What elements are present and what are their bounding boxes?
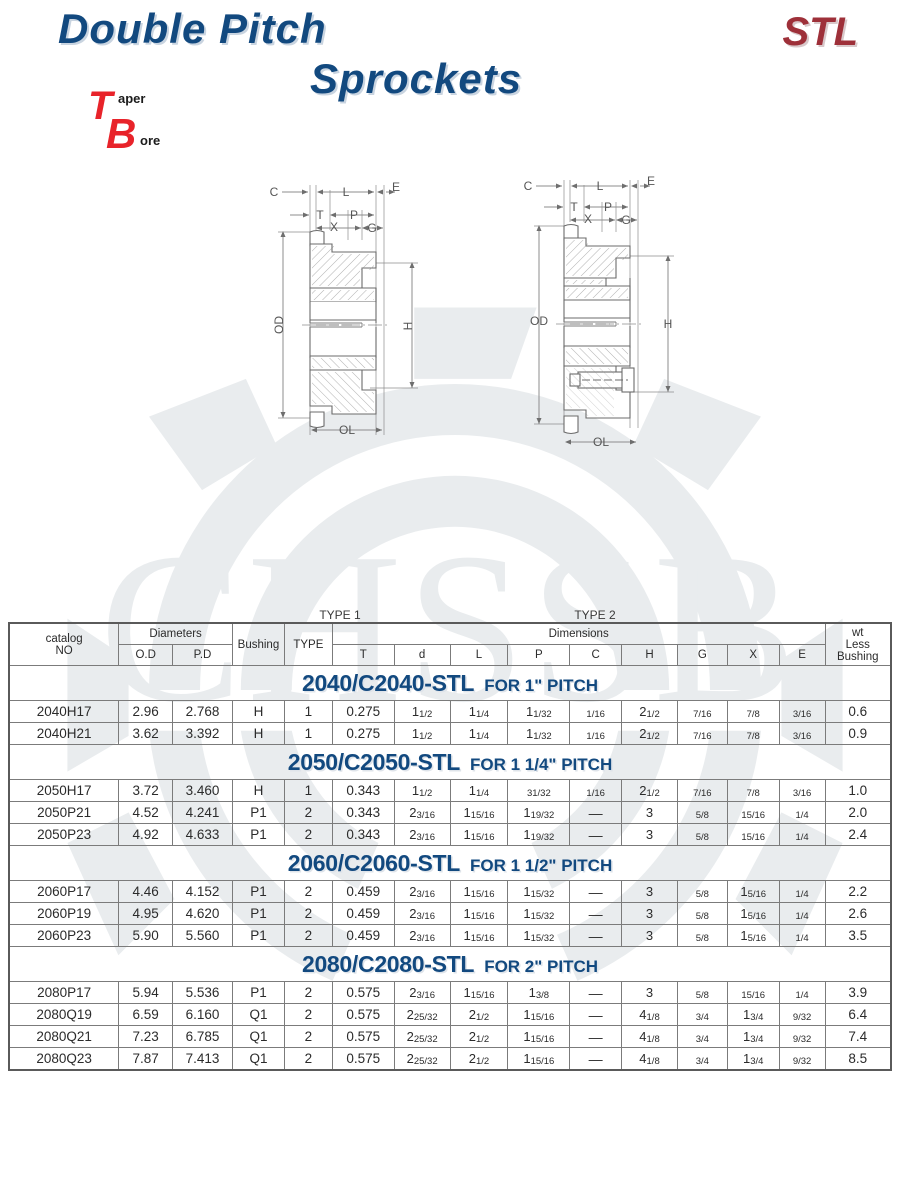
value-d: 225/32: [394, 1004, 450, 1026]
section-header-1: 2050/C2050-STLFOR 1 1/4" PITCH: [9, 745, 891, 780]
tb-logo-b: B: [106, 110, 136, 158]
dim-label-L: L: [597, 179, 604, 193]
value-wt: 0.9: [825, 723, 891, 745]
dim-label-C: C: [270, 185, 279, 199]
value-pd: 2.768: [173, 701, 233, 723]
value-X: 15/16: [727, 903, 779, 925]
value-L: 11/4: [450, 723, 508, 745]
value-G: 3/4: [677, 1026, 727, 1048]
dim-label-E: E: [392, 180, 400, 194]
value-T: 0.459: [332, 925, 394, 947]
value-G: 3/4: [677, 1004, 727, 1026]
catalog-no: 2050P23: [9, 824, 119, 846]
value-d: 23/16: [394, 802, 450, 824]
dim-label-T: T: [316, 208, 324, 222]
value-G: 5/8: [677, 903, 727, 925]
value-d: 23/16: [394, 903, 450, 925]
value-C: —: [570, 824, 622, 846]
section-pitch: FOR 2" PITCH: [484, 957, 598, 976]
value-d: 23/16: [394, 982, 450, 1004]
value-E: 1/4: [779, 881, 825, 903]
value-d: 225/32: [394, 1026, 450, 1048]
table-row: 2060P235.905.560P120.45923/16115/16115/3…: [9, 925, 891, 947]
catalog-no: 2080Q23: [9, 1048, 119, 1071]
section-pitch: FOR 1" PITCH: [484, 676, 598, 695]
value-T: 0.575: [332, 1026, 394, 1048]
value-E: 1/4: [779, 925, 825, 947]
value-wt: 3.5: [825, 925, 891, 947]
value-G: 5/8: [677, 881, 727, 903]
col-header-H: H: [622, 645, 678, 666]
value-L: 21/2: [450, 1026, 508, 1048]
value-X: 15/16: [727, 925, 779, 947]
value-H: 3: [622, 824, 678, 846]
dim-label-OD: OD: [272, 316, 286, 334]
value-X: 7/8: [727, 701, 779, 723]
value-P: 115/16: [508, 1048, 570, 1071]
value-d: 11/2: [394, 723, 450, 745]
value-d: 23/16: [394, 881, 450, 903]
value-bushing: P1: [232, 903, 284, 925]
table-row: 2040H213.623.392H10.27511/211/411/321/16…: [9, 723, 891, 745]
value-E: 1/4: [779, 903, 825, 925]
tb-logo-ore: ore: [140, 133, 160, 148]
catalog-line2: NO: [10, 645, 118, 657]
value-wt: 6.4: [825, 1004, 891, 1026]
dim-label-H: H: [401, 322, 415, 331]
value-d: 11/2: [394, 780, 450, 802]
value-P: 119/32: [508, 824, 570, 846]
table-row: 2050P214.524.241P120.34323/16115/16119/3…: [9, 802, 891, 824]
value-G: 5/8: [677, 802, 727, 824]
value-G: 5/8: [677, 982, 727, 1004]
dim-label-OL: OL: [339, 423, 355, 437]
value-H: 3: [622, 903, 678, 925]
table-row: 2060P194.954.620P120.45923/16115/16115/3…: [9, 903, 891, 925]
value-d: 23/16: [394, 824, 450, 846]
value-type: 2: [284, 802, 332, 824]
value-wt: 3.9: [825, 982, 891, 1004]
value-bushing: Q1: [232, 1004, 284, 1026]
value-bushing: H: [232, 701, 284, 723]
catalog-no: 2040H21: [9, 723, 119, 745]
value-E: 1/4: [779, 802, 825, 824]
catalog-no: 2050P21: [9, 802, 119, 824]
value-T: 0.575: [332, 1048, 394, 1071]
catalog-no: 2060P23: [9, 925, 119, 947]
value-G: 7/16: [677, 701, 727, 723]
value-pd: 3.392: [173, 723, 233, 745]
page-title-line1: Double Pitch: [58, 8, 327, 50]
catalog-no: 2060P17: [9, 881, 119, 903]
section-header-0: 2040/C2040-STLFOR 1" PITCH: [9, 666, 891, 701]
col-header-P: P: [508, 645, 570, 666]
value-T: 0.459: [332, 881, 394, 903]
value-bushing: H: [232, 780, 284, 802]
value-C: —: [570, 1048, 622, 1071]
sprocket-drawing-type-2: C L E T P X G OD H OL: [510, 160, 760, 490]
dim-label-C: C: [524, 179, 533, 193]
table-body: 2040/C2040-STLFOR 1" PITCH2040H172.962.7…: [9, 666, 891, 1071]
value-wt: 0.6: [825, 701, 891, 723]
value-od: 4.92: [119, 824, 173, 846]
value-pd: 6.160: [173, 1004, 233, 1026]
col-header-catalog: catalog NO: [9, 623, 119, 666]
value-wt: 7.4: [825, 1026, 891, 1048]
table-row: 2050P234.924.633P120.34323/16115/16119/3…: [9, 824, 891, 846]
table-row: 2080Q196.596.160Q120.575225/3221/2115/16…: [9, 1004, 891, 1026]
value-T: 0.275: [332, 723, 394, 745]
value-wt: 8.5: [825, 1048, 891, 1071]
value-X: 7/8: [727, 723, 779, 745]
catalog-no: 2060P19: [9, 903, 119, 925]
value-T: 0.575: [332, 1004, 394, 1026]
value-L: 21/2: [450, 1004, 508, 1026]
catalog-no: 2080P17: [9, 982, 119, 1004]
dim-label-OD: OD: [530, 314, 548, 328]
value-wt: 2.6: [825, 903, 891, 925]
section-header-2: 2060/C2060-STLFOR 1 1/2" PITCH: [9, 846, 891, 881]
col-header-dimensions: Dimensions: [332, 623, 825, 645]
value-od: 7.87: [119, 1048, 173, 1071]
value-E: 1/4: [779, 824, 825, 846]
wt-line3: Bushing: [826, 651, 891, 663]
value-H: 3: [622, 925, 678, 947]
value-C: —: [570, 1004, 622, 1026]
sprocket-drawing-type-1: C L E T P X G OD H OL: [250, 160, 500, 490]
value-pd: 4.633: [173, 824, 233, 846]
value-E: 9/32: [779, 1048, 825, 1071]
value-type: 2: [284, 903, 332, 925]
col-header-type: TYPE: [284, 623, 332, 666]
taper-bore-logo: T aper B ore: [88, 84, 178, 162]
value-type: 1: [284, 723, 332, 745]
section-header-row: 2040/C2040-STLFOR 1" PITCH: [9, 666, 891, 701]
value-X: 15/16: [727, 982, 779, 1004]
col-header-L: L: [450, 645, 508, 666]
section-code: 2080/C2080-STL: [302, 951, 474, 977]
value-H: 21/2: [622, 780, 678, 802]
spec-table-container: catalog NO Diameters Bushing TYPE Dimens…: [8, 622, 892, 1071]
value-pd: 3.460: [173, 780, 233, 802]
value-G: 7/16: [677, 780, 727, 802]
value-C: 1/16: [570, 780, 622, 802]
value-od: 6.59: [119, 1004, 173, 1026]
value-E: 9/32: [779, 1026, 825, 1048]
value-G: 5/8: [677, 925, 727, 947]
value-od: 3.62: [119, 723, 173, 745]
value-bushing: P1: [232, 802, 284, 824]
value-type: 2: [284, 881, 332, 903]
tb-logo-aper: aper: [118, 91, 145, 106]
col-header-T: T: [332, 645, 394, 666]
value-P: 11/32: [508, 723, 570, 745]
catalog-no: 2080Q19: [9, 1004, 119, 1026]
value-C: 1/16: [570, 723, 622, 745]
value-X: 13/4: [727, 1026, 779, 1048]
value-E: 1/4: [779, 982, 825, 1004]
value-P: 115/32: [508, 903, 570, 925]
value-L: 115/16: [450, 903, 508, 925]
col-header-pd: P.D: [173, 645, 233, 666]
value-C: 1/16: [570, 701, 622, 723]
value-P: 119/32: [508, 802, 570, 824]
section-header-row: 2080/C2080-STLFOR 2" PITCH: [9, 947, 891, 982]
table-row: 2050H173.723.460H10.34311/211/431/321/16…: [9, 780, 891, 802]
page-title-line2: Sprockets: [310, 58, 522, 100]
value-G: 3/4: [677, 1048, 727, 1071]
value-T: 0.343: [332, 780, 394, 802]
value-P: 115/32: [508, 881, 570, 903]
value-bushing: H: [232, 723, 284, 745]
value-L: 11/4: [450, 780, 508, 802]
catalog-line1: catalog: [10, 633, 118, 645]
value-type: 2: [284, 1048, 332, 1071]
dim-label-X: X: [584, 212, 592, 226]
wt-line2: Less: [826, 639, 891, 651]
value-od: 3.72: [119, 780, 173, 802]
value-bushing: P1: [232, 824, 284, 846]
table-row: 2080Q217.236.785Q120.575225/3221/2115/16…: [9, 1026, 891, 1048]
value-P: 31/32: [508, 780, 570, 802]
value-d: 23/16: [394, 925, 450, 947]
section-pitch: FOR 1 1/4" PITCH: [470, 755, 612, 774]
value-type: 1: [284, 780, 332, 802]
value-T: 0.575: [332, 982, 394, 1004]
value-bushing: Q1: [232, 1026, 284, 1048]
dim-label-G: G: [367, 221, 376, 235]
value-L: 115/16: [450, 925, 508, 947]
value-L: 115/16: [450, 802, 508, 824]
value-E: 3/16: [779, 723, 825, 745]
value-C: —: [570, 925, 622, 947]
value-P: 13/8: [508, 982, 570, 1004]
col-header-X: X: [727, 645, 779, 666]
value-L: 21/2: [450, 1048, 508, 1071]
value-H: 21/2: [622, 723, 678, 745]
value-L: 11/4: [450, 701, 508, 723]
value-bushing: P1: [232, 881, 284, 903]
value-L: 115/16: [450, 982, 508, 1004]
col-header-diameters: Diameters: [119, 623, 233, 645]
col-header-od: O.D: [119, 645, 173, 666]
value-type: 2: [284, 1026, 332, 1048]
value-type: 1: [284, 701, 332, 723]
dim-label-L: L: [343, 185, 350, 199]
value-wt: 2.0: [825, 802, 891, 824]
value-pd: 4.241: [173, 802, 233, 824]
value-type: 2: [284, 982, 332, 1004]
value-G: 5/8: [677, 824, 727, 846]
col-header-wt-less-bushing: wt Less Bushing: [825, 623, 891, 666]
table-row: 2040H172.962.768H10.27511/211/411/321/16…: [9, 701, 891, 723]
drawing-caption-type-1: TYPE 1: [280, 608, 400, 622]
value-H: 3: [622, 881, 678, 903]
technical-drawings: C L E T P X G OD H OL: [0, 160, 900, 600]
value-wt: 2.2: [825, 881, 891, 903]
page-header: Double Pitch Sprockets STL T aper B ore: [0, 0, 900, 160]
table-row: 2060P174.464.152P120.45923/16115/16115/3…: [9, 881, 891, 903]
wt-line1: wt: [826, 627, 891, 639]
value-pd: 5.536: [173, 982, 233, 1004]
value-C: —: [570, 903, 622, 925]
dim-label-P: P: [350, 208, 358, 222]
stl-brand-logo: STL: [782, 10, 858, 55]
value-od: 2.96: [119, 701, 173, 723]
table-row: 2080Q237.877.413Q120.575225/3221/2115/16…: [9, 1048, 891, 1071]
value-T: 0.343: [332, 802, 394, 824]
value-X: 15/16: [727, 881, 779, 903]
value-G: 7/16: [677, 723, 727, 745]
catalog-no: 2040H17: [9, 701, 119, 723]
catalog-no: 2050H17: [9, 780, 119, 802]
value-pd: 4.620: [173, 903, 233, 925]
section-code: 2050/C2050-STL: [288, 749, 460, 775]
value-X: 15/16: [727, 824, 779, 846]
value-X: 15/16: [727, 802, 779, 824]
section-header-row: 2050/C2050-STLFOR 1 1/4" PITCH: [9, 745, 891, 780]
table-row: 2080P175.945.536P120.57523/16115/1613/8—…: [9, 982, 891, 1004]
col-header-E: E: [779, 645, 825, 666]
value-P: 11/32: [508, 701, 570, 723]
value-L: 115/16: [450, 824, 508, 846]
value-bushing: P1: [232, 925, 284, 947]
value-L: 115/16: [450, 881, 508, 903]
value-P: 115/32: [508, 925, 570, 947]
dim-label-X: X: [330, 220, 338, 234]
value-H: 41/8: [622, 1004, 678, 1026]
section-code: 2040/C2040-STL: [302, 670, 474, 696]
value-H: 3: [622, 982, 678, 1004]
value-bushing: P1: [232, 982, 284, 1004]
value-pd: 7.413: [173, 1048, 233, 1071]
section-header-row: 2060/C2060-STLFOR 1 1/2" PITCH: [9, 846, 891, 881]
value-wt: 1.0: [825, 780, 891, 802]
dim-label-OL: OL: [593, 435, 609, 449]
dim-label-T: T: [570, 200, 578, 214]
col-header-G: G: [677, 645, 727, 666]
value-E: 3/16: [779, 701, 825, 723]
value-P: 115/16: [508, 1004, 570, 1026]
value-wt: 2.4: [825, 824, 891, 846]
value-T: 0.343: [332, 824, 394, 846]
value-od: 5.94: [119, 982, 173, 1004]
value-pd: 6.785: [173, 1026, 233, 1048]
dim-label-H: H: [664, 317, 673, 331]
value-C: —: [570, 1026, 622, 1048]
col-header-d: d: [394, 645, 450, 666]
value-d: 11/2: [394, 701, 450, 723]
value-pd: 4.152: [173, 881, 233, 903]
sprocket-spec-table: catalog NO Diameters Bushing TYPE Dimens…: [8, 622, 892, 1071]
col-header-C: C: [570, 645, 622, 666]
value-X: 7/8: [727, 780, 779, 802]
table-head: catalog NO Diameters Bushing TYPE Dimens…: [9, 623, 891, 666]
value-T: 0.459: [332, 903, 394, 925]
value-C: —: [570, 982, 622, 1004]
value-od: 4.46: [119, 881, 173, 903]
value-type: 2: [284, 824, 332, 846]
value-od: 4.52: [119, 802, 173, 824]
dim-label-G: G: [621, 213, 630, 227]
value-C: —: [570, 802, 622, 824]
value-H: 41/8: [622, 1026, 678, 1048]
drawing-caption-type-2: TYPE 2: [535, 608, 655, 622]
section-header-3: 2080/C2080-STLFOR 2" PITCH: [9, 947, 891, 982]
dim-label-E: E: [647, 174, 655, 188]
dim-label-P: P: [604, 200, 612, 214]
value-C: —: [570, 881, 622, 903]
catalog-no: 2080Q21: [9, 1026, 119, 1048]
value-E: 3/16: [779, 780, 825, 802]
value-H: 21/2: [622, 701, 678, 723]
value-H: 3: [622, 802, 678, 824]
section-pitch: FOR 1 1/2" PITCH: [470, 856, 612, 875]
value-X: 13/4: [727, 1048, 779, 1071]
value-od: 7.23: [119, 1026, 173, 1048]
value-type: 2: [284, 1004, 332, 1026]
value-X: 13/4: [727, 1004, 779, 1026]
section-code: 2060/C2060-STL: [288, 850, 460, 876]
value-od: 4.95: [119, 903, 173, 925]
value-T: 0.275: [332, 701, 394, 723]
value-pd: 5.560: [173, 925, 233, 947]
value-type: 2: [284, 925, 332, 947]
col-header-bushing: Bushing: [232, 623, 284, 666]
value-E: 9/32: [779, 1004, 825, 1026]
value-od: 5.90: [119, 925, 173, 947]
value-d: 225/32: [394, 1048, 450, 1071]
value-P: 115/16: [508, 1026, 570, 1048]
value-H: 41/8: [622, 1048, 678, 1071]
value-bushing: Q1: [232, 1048, 284, 1071]
